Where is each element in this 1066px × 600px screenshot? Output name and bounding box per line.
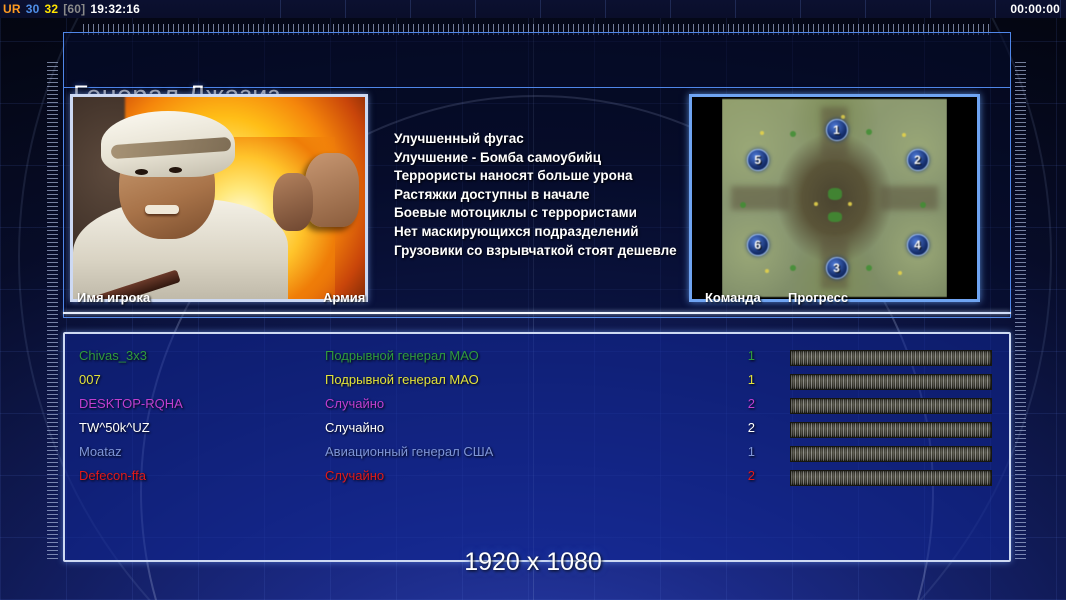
cell-player-name: Moataz: [79, 444, 122, 459]
map-tree: [740, 202, 746, 208]
map-start-label: 3: [833, 261, 840, 275]
map-resource: [765, 269, 769, 273]
table-row[interactable]: Defecon-ffaСлучайно2: [65, 466, 1009, 490]
hud-grid-line: [540, 0, 541, 18]
hud-grid-line: [670, 0, 671, 18]
table-row[interactable]: 007Подрывной генерал МАО1: [65, 370, 1009, 394]
main-frame: Генерал Джазиз: [37, 32, 1033, 562]
ability-line: Грузовики со взрывчаткой стоят дешевле: [394, 242, 684, 261]
map-resource: [898, 271, 902, 275]
map-start-label: 6: [754, 238, 761, 252]
hud-clock: 19:32:16: [90, 2, 140, 16]
cell-army: Случайно: [325, 396, 384, 411]
header-player-name: Имя игрока: [77, 290, 150, 305]
ability-line: Растяжки доступны в начале: [394, 186, 684, 205]
hud-grid-line: [735, 0, 736, 18]
general-ability-list: Улучшенный фугас Улучшение - Бомба самоу…: [394, 130, 684, 260]
hud-bar: UR 30 32 [60] 19:32:16 00:00:00: [0, 0, 1066, 18]
map-start-label: 1: [833, 123, 840, 137]
map-road: [880, 186, 939, 210]
map-start-position-4: 4: [907, 234, 929, 256]
map-start-label: 5: [754, 153, 761, 167]
map-letterbox-right: [947, 97, 977, 299]
cell-army: Подрывной генерал МАО: [325, 372, 479, 387]
hud-value-gray: [60]: [63, 2, 85, 16]
portrait-eye-left: [135, 169, 148, 175]
cell-progress-bar: [790, 350, 992, 366]
ability-line: Улучшение - Бомба самоубийц: [394, 149, 684, 168]
map-tree: [920, 202, 926, 208]
hud-label: UR: [0, 2, 21, 16]
cell-team: 2: [725, 420, 755, 435]
ability-line: Боевые мотоциклы с террористами: [394, 204, 684, 223]
map-tree: [790, 131, 796, 137]
cell-player-name: 007: [79, 372, 101, 387]
map-start-position-3: 3: [826, 257, 848, 279]
ability-line: Улучшенный фугас: [394, 130, 684, 149]
hud-grid-line: [995, 0, 996, 18]
portrait-mouth: [145, 205, 179, 214]
cell-team: 2: [725, 468, 755, 483]
ability-line: Террористы наносят больше урона: [394, 167, 684, 186]
map-start-position-1: 1: [826, 119, 848, 141]
map-letterbox-left: [692, 97, 722, 299]
cell-army: Случайно: [325, 420, 384, 435]
cell-team: 2: [725, 396, 755, 411]
hud-grid-line: [865, 0, 866, 18]
hud-grid-line: [475, 0, 476, 18]
map-start-label: 4: [914, 238, 921, 252]
loading-screen: UR 30 32 [60] 19:32:16 00:00:00 Генерал …: [0, 0, 1066, 600]
cell-player-name: Chivas_3x3: [79, 348, 147, 363]
map-resource: [902, 133, 906, 137]
cell-team: 1: [725, 372, 755, 387]
cell-player-name: DESKTOP-RQHA: [79, 396, 183, 411]
content-panel: Улучшенный фугас Улучшение - Бомба самоу…: [63, 88, 1011, 318]
map-resource: [760, 131, 764, 135]
map-tree: [866, 129, 872, 135]
cell-army: Авиационный генерал США: [325, 444, 493, 459]
resolution-label: 1920 x 1080: [0, 548, 1066, 577]
table-row[interactable]: TW^50k^UZСлучайно2: [65, 418, 1009, 442]
header-divider: [63, 312, 1011, 314]
header-army: Армия: [323, 290, 365, 305]
cell-progress-bar: [790, 374, 992, 390]
hud-grid-line: [1060, 0, 1061, 18]
hud-grid-line: [280, 0, 281, 18]
portrait-headdress: [101, 111, 235, 177]
cell-army: Подрывной генерал МАО: [325, 348, 479, 363]
cell-progress-bar: [790, 398, 992, 414]
cell-progress-bar: [790, 422, 992, 438]
header-team: Команда: [705, 290, 761, 305]
general-portrait: [70, 94, 368, 302]
hud-grid-line: [800, 0, 801, 18]
map-tree: [790, 265, 796, 271]
cell-team: 1: [725, 348, 755, 363]
map-tree: [828, 188, 842, 200]
map-resource: [814, 202, 818, 206]
portrait-eye-right: [169, 167, 182, 173]
cell-player-name: Defecon-ffa: [79, 468, 146, 483]
map-terrain: 1 2 3 4 5 6: [722, 99, 947, 297]
player-table: Chivas_3x3Подрывной генерал МАО1007Подры…: [63, 332, 1011, 562]
map-tree: [866, 265, 872, 271]
hud-grid-line: [930, 0, 931, 18]
ruler-right: [1015, 62, 1026, 562]
cell-army: Случайно: [325, 468, 384, 483]
hud-grid-line: [605, 0, 606, 18]
cell-team: 1: [725, 444, 755, 459]
map-start-label: 2: [914, 153, 921, 167]
ability-line: Нет маскирующихся подразделений: [394, 223, 684, 242]
portrait-hand-right: [305, 153, 359, 227]
table-header: Имя игрока Армия Команда Прогресс: [63, 290, 1011, 312]
map-preview: 1 2 3 4 5 6: [689, 94, 980, 302]
cell-progress-bar: [790, 470, 992, 486]
map-resource: [848, 202, 852, 206]
cell-player-name: TW^50k^UZ: [79, 420, 150, 435]
hud-value-blue: 30: [26, 2, 40, 16]
header-progress: Прогресс: [788, 290, 848, 305]
table-row[interactable]: Chivas_3x3Подрывной генерал МАО1: [65, 346, 1009, 370]
hud-value-yellow: 32: [44, 2, 58, 16]
map-start-position-6: 6: [747, 234, 769, 256]
hud-timer: 00:00:00: [1010, 2, 1060, 16]
map-tree: [828, 212, 842, 222]
hud-grid-line: [345, 0, 346, 18]
map-start-position-2: 2: [907, 149, 929, 171]
cell-progress-bar: [790, 446, 992, 462]
table-row[interactable]: MoatazАвиационный генерал США1: [65, 442, 1009, 466]
portrait-hand-left: [273, 173, 313, 231]
hud-grid-line: [410, 0, 411, 18]
map-start-position-5: 5: [747, 149, 769, 171]
ruler-left: [47, 62, 58, 562]
table-row[interactable]: DESKTOP-RQHAСлучайно2: [65, 394, 1009, 418]
